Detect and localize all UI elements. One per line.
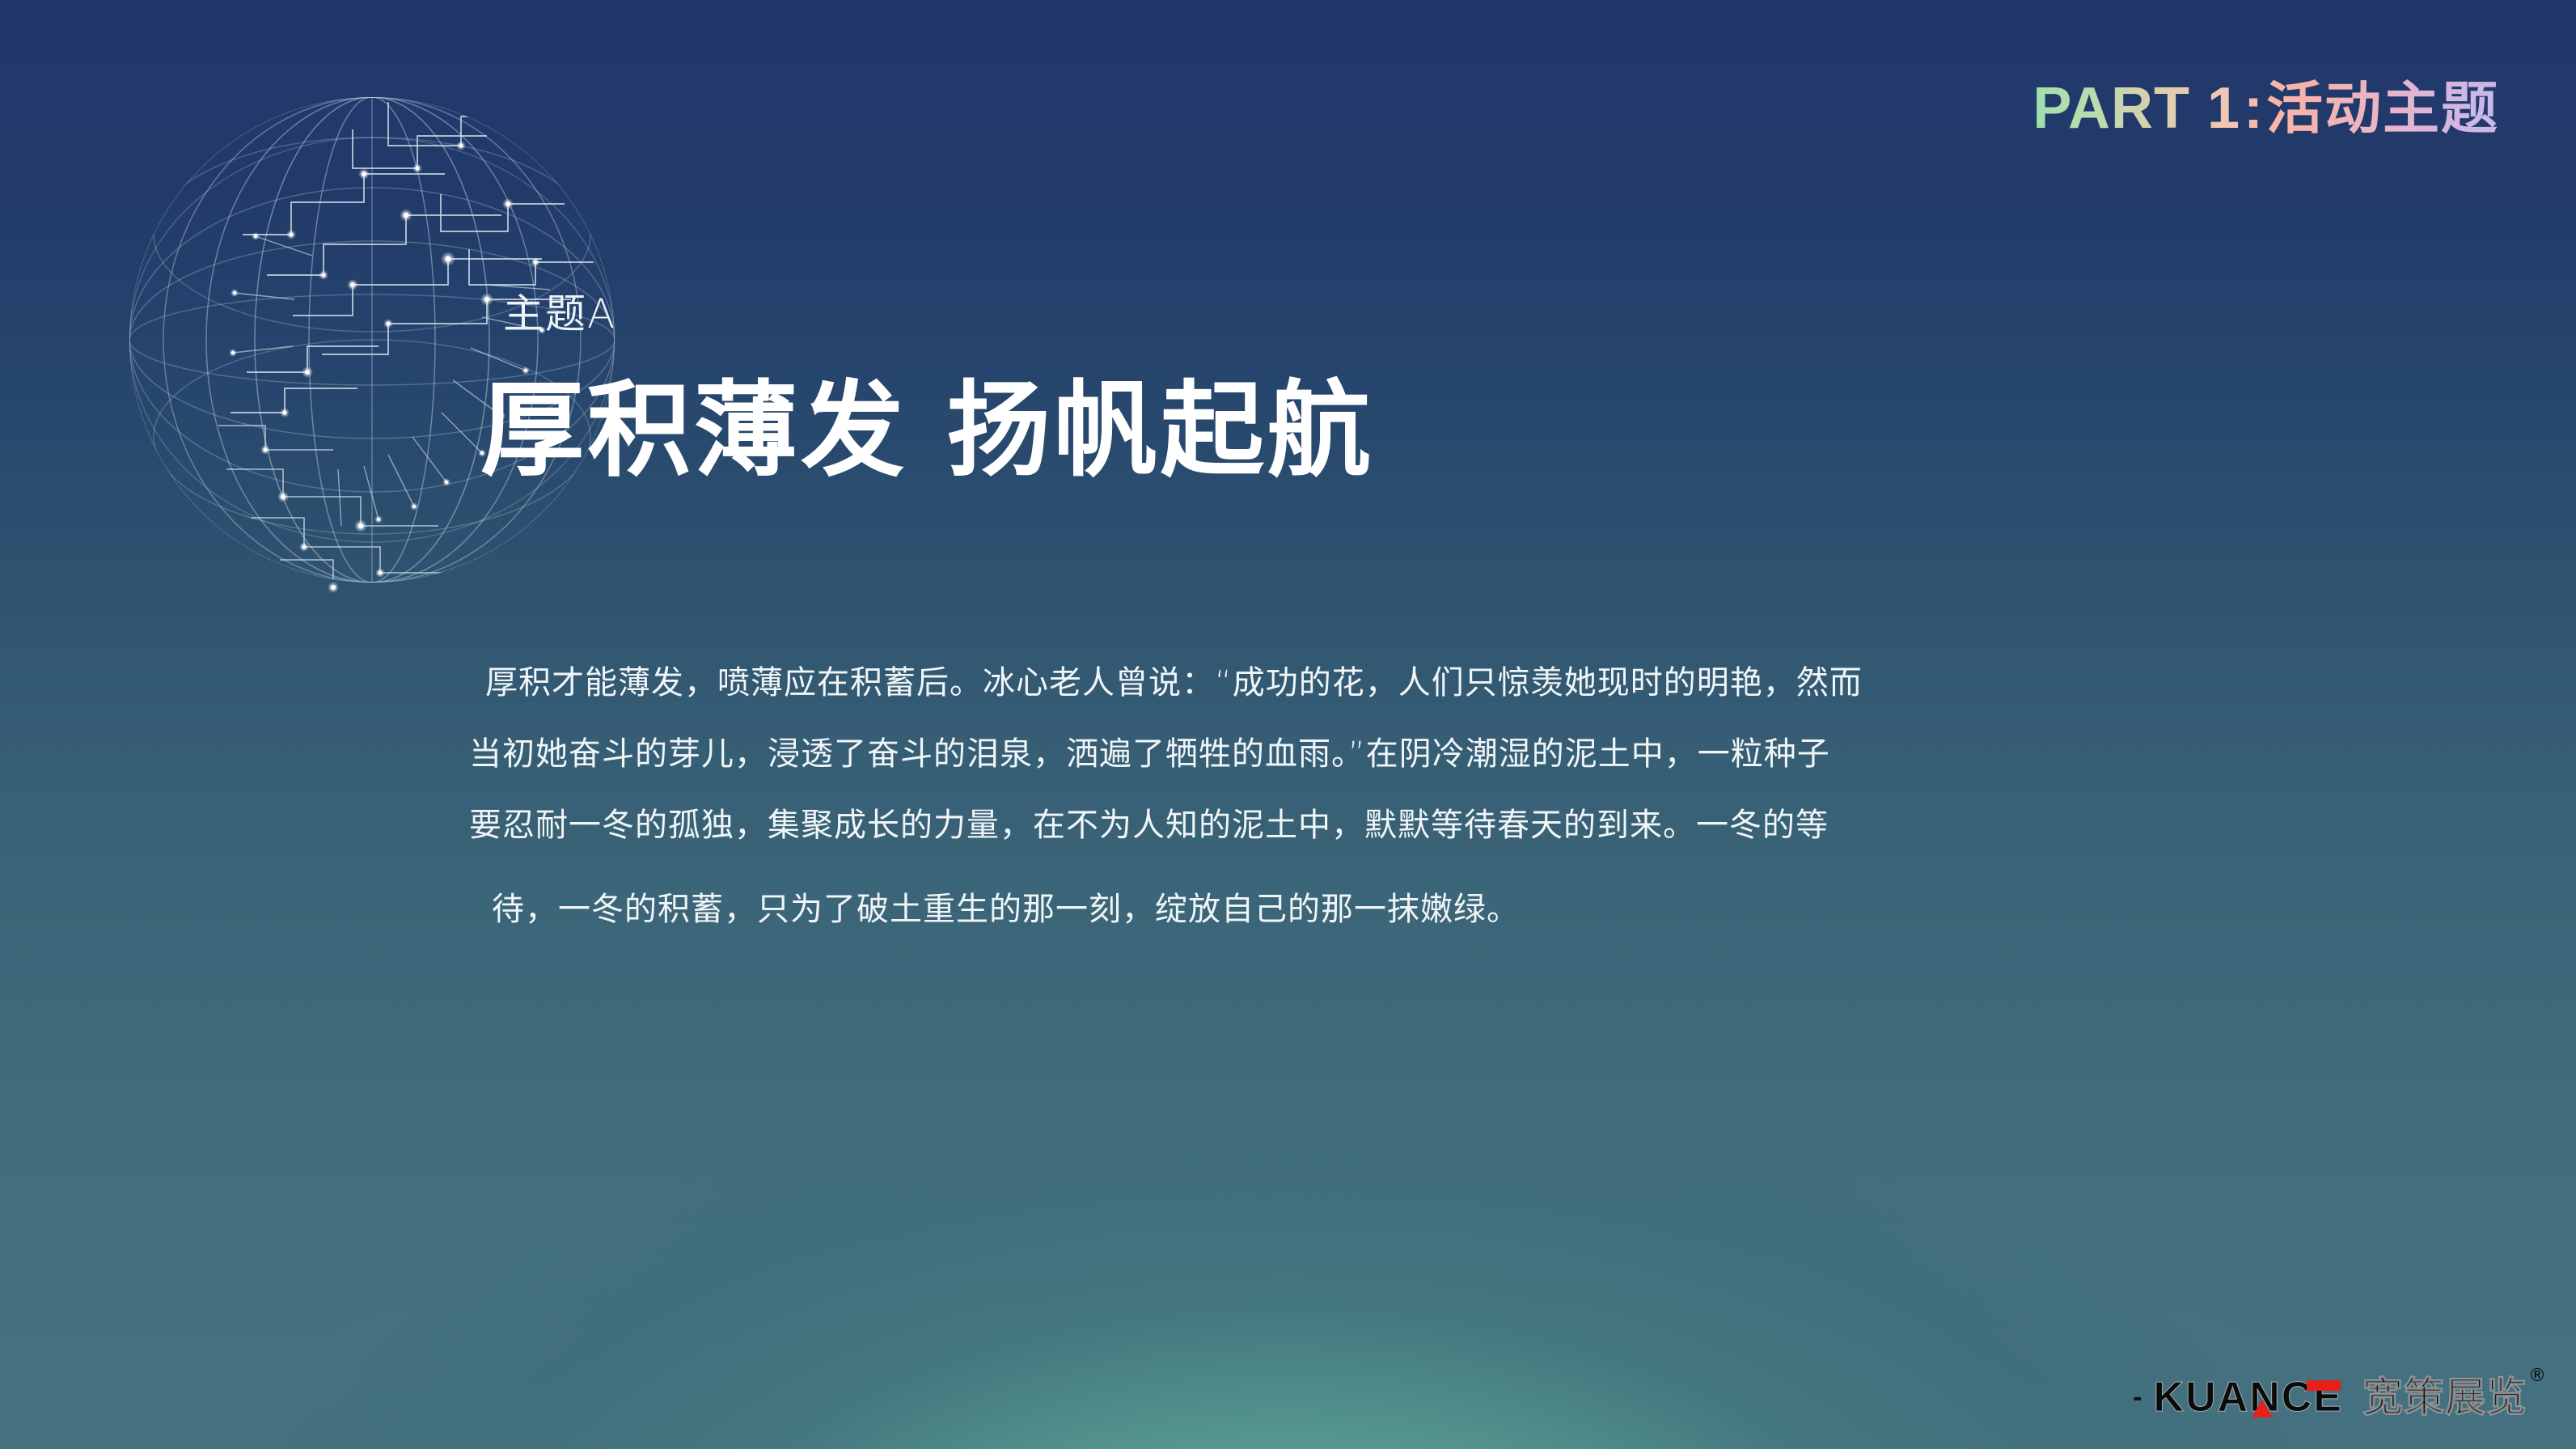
registered-trademark-icon: ® [2528, 1367, 2547, 1385]
slide-canvas: PART 1 : 活动主题 主题A 厚积薄发 扬帆起航 厚积才能薄发，喷薄应在积… [0, 0, 2576, 1449]
logo-dash: - [2133, 1383, 2142, 1411]
body-line-4: 待，一冬的积蓄，只为了破土重生的那一刻，绽放自己的那一抹嫩绿。 [469, 874, 2111, 945]
logo-chinese-text: 宽策展览 [2362, 1374, 2527, 1421]
body-line-2: 当初她奋斗的芽儿，浸透了奋斗的泪泉，洒遍了牺牲的血雨。”在阴冷潮湿的泥土中，一粒… [469, 718, 2111, 790]
part-separator: : [2240, 75, 2266, 142]
body-line-3: 要忍耐一冬的孤独，集聚成长的力量，在不为人知的泥土中，默默等待春天的到来。一冬的… [469, 790, 2111, 861]
body-paragraph: 厚积才能薄发，喷薄应在积蓄后。冰心老人曾说：“成功的花，人们只惊羡她现时的明艳，… [469, 647, 2111, 945]
part-number-label: PART 1 [2032, 75, 2240, 142]
logo-chinese-name: 宽策展览 ® [2362, 1377, 2527, 1417]
part-title-label: 活动主题 [2266, 63, 2499, 145]
logo-triangle-icon [2252, 1400, 2273, 1417]
page-title: 厚积薄发 扬帆起航 [480, 368, 1374, 494]
logo-red-bar-icon [2307, 1380, 2341, 1391]
body-line-1: 厚积才能薄发，喷薄应在积蓄后。冰心老人曾说：“成功的花，人们只惊羡她现时的明艳，… [469, 647, 2111, 718]
theme-label: 主题A [503, 282, 616, 340]
brand-logo: - KUANCE 宽策展览 ® [2133, 1376, 2527, 1418]
wireframe-globe-graphic [121, 32, 623, 647]
logo-mark: KUANCE [2154, 1376, 2343, 1418]
part-header: PART 1 : 活动主题 [2032, 63, 2499, 145]
